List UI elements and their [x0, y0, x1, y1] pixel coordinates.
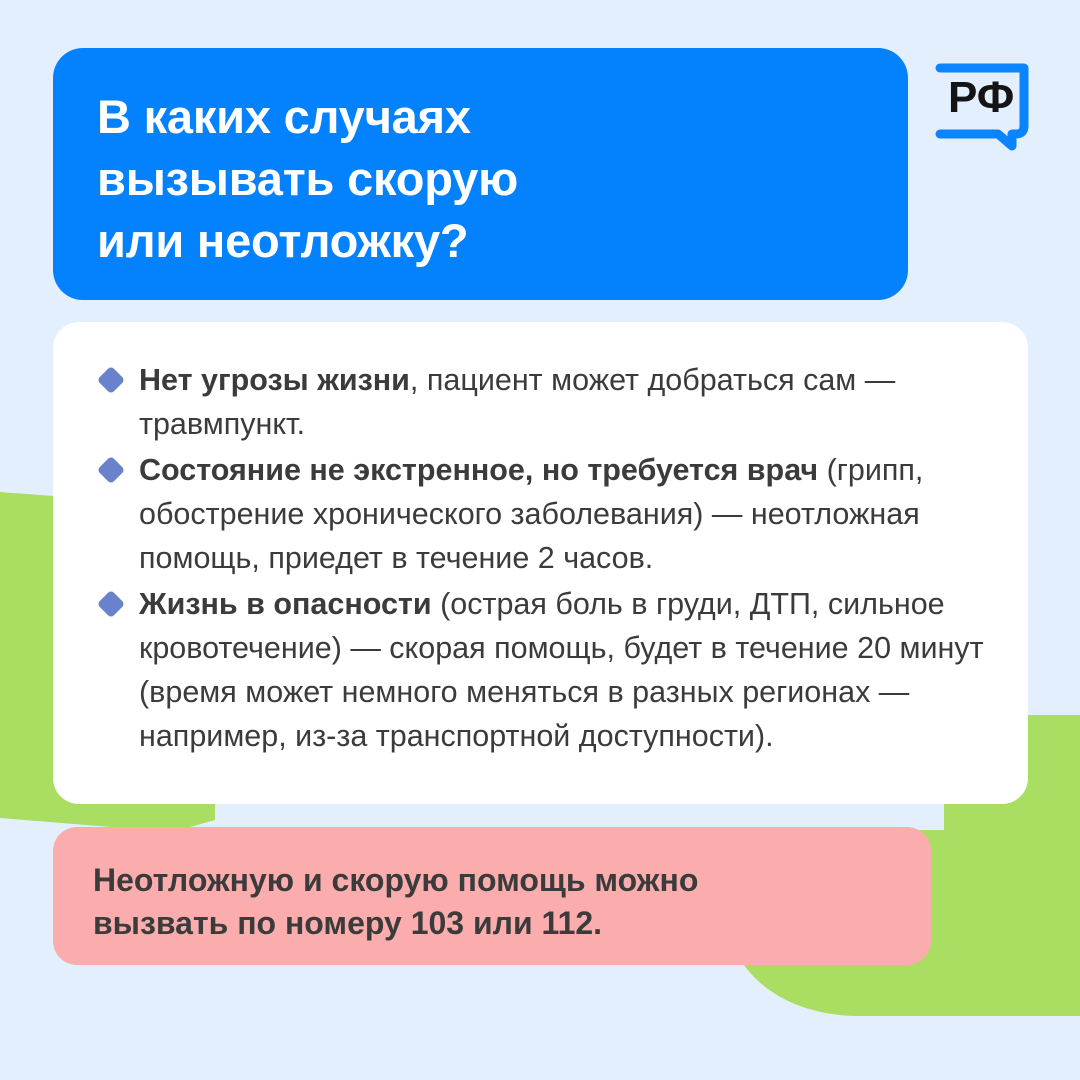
infographic-poster: В каких случаях вызывать скорую или неот… — [0, 0, 1080, 1080]
rf-logo-text: РФ — [948, 73, 1014, 122]
footer-card: Неотложную и скорую помощь можно вызвать… — [53, 827, 931, 965]
page-title: В каких случаях вызывать скорую или неот… — [97, 86, 864, 272]
list-item: Жизнь в опасности (острая боль в груди, … — [93, 582, 998, 758]
bullet-list: Нет угрозы жизни, пациент может добратьс… — [93, 358, 998, 758]
footer-text: Неотложную и скорую помощь можно вызвать… — [93, 859, 891, 945]
header-card: В каких случаях вызывать скорую или неот… — [53, 48, 908, 300]
list-item: Нет угрозы жизни, пациент может добратьс… — [93, 358, 998, 446]
diamond-bullet-icon — [97, 456, 125, 484]
content-card: Нет угрозы жизни, пациент может добратьс… — [53, 322, 1028, 804]
list-item-lead: Жизнь в опасности — [139, 587, 432, 621]
list-item-lead: Нет угрозы жизни — [139, 363, 410, 397]
diamond-bullet-icon — [97, 590, 125, 618]
list-item-lead: Состояние не экстренное, но требуется вр… — [139, 453, 818, 487]
rf-logo: РФ — [928, 48, 1036, 156]
diamond-bullet-icon — [97, 366, 125, 394]
list-item: Состояние не экстренное, но требуется вр… — [93, 448, 998, 580]
